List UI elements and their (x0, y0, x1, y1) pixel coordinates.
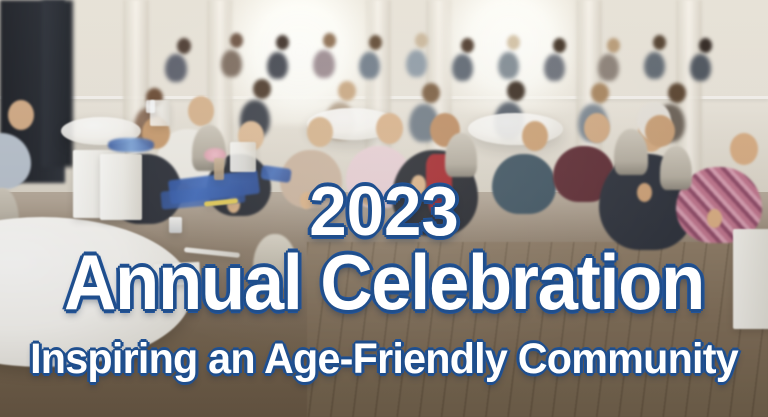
event-title: Annual Celebration (27, 242, 741, 322)
event-banner: 2023 Annual Celebration Inspiring an Age… (0, 0, 768, 417)
event-year: 2023 (15, 176, 752, 246)
event-tagline: Inspiring an Age-Friendly Community (15, 336, 752, 382)
title-overlay: 2023 Annual Celebration Inspiring an Age… (0, 0, 768, 417)
